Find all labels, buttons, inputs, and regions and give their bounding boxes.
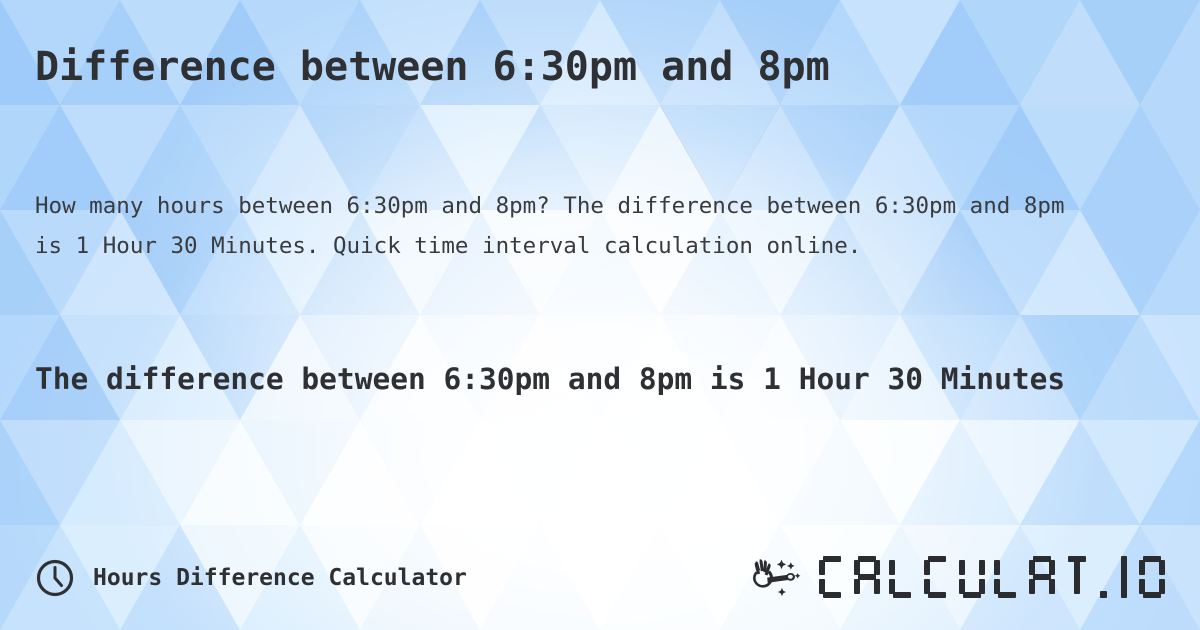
footer-tool: Hours Difference Calculator — [35, 558, 467, 598]
brand-char-a2 — [1029, 556, 1055, 598]
brand-logo[interactable] — [745, 555, 1165, 601]
footer-tool-name: Hours Difference Calculator — [93, 565, 467, 591]
footer: Hours Difference Calculator — [35, 548, 1165, 608]
brand-char-o — [1139, 556, 1165, 598]
og-card: Difference between 6:30pm and 8pm How ma… — [0, 0, 1200, 630]
brand-char-l2 — [994, 556, 1020, 598]
brand-char-i — [1119, 556, 1130, 598]
brand-char-a1 — [854, 556, 880, 598]
brand-char-l1 — [889, 556, 915, 598]
brand-char-dot — [1099, 556, 1110, 598]
result-heading: The difference between 6:30pm and 8pm is… — [35, 356, 1167, 404]
page-description: How many hours between 6:30pm and 8pm? T… — [35, 186, 1065, 266]
magic-wand-icon — [745, 555, 809, 601]
brand-char-c1 — [819, 556, 845, 598]
brand-char-t — [1064, 556, 1090, 598]
brand-char-u — [959, 556, 985, 598]
brand-char-c2 — [924, 556, 950, 598]
page-title: Difference between 6:30pm and 8pm — [35, 44, 1165, 91]
clock-icon — [35, 558, 75, 598]
card-content: Difference between 6:30pm and 8pm How ma… — [0, 0, 1200, 630]
brand-wordmark — [819, 556, 1165, 600]
